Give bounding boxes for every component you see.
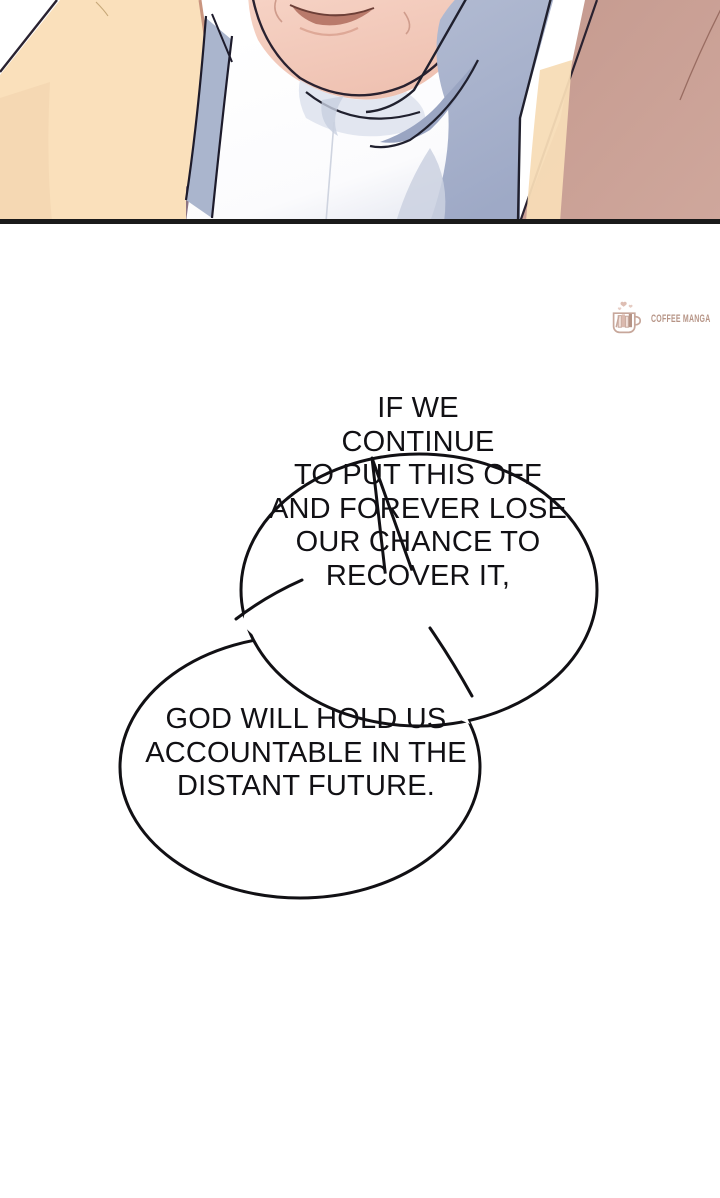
bubble-line: IF WE <box>236 392 600 426</box>
panel-contents <box>0 0 720 222</box>
speech-bubble-secondary-text: GOD WILL HOLD US ACCOUNTABLE IN THE DIST… <box>124 703 488 804</box>
speech-bubble-primary-text: IF WE CONTINUE TO PUT THIS OFF AND FOREV… <box>236 392 600 593</box>
bubble-line: CONTINUE <box>236 426 600 460</box>
panel-artwork-svg <box>0 0 720 224</box>
bubble-line: OUR CHANCE TO <box>236 526 600 560</box>
bubble-line: AND FOREVER LOSE <box>236 493 600 527</box>
webtoon-page: COFFEE MANGA IF WE CONTINUE TO PUT THIS … <box>0 0 720 1198</box>
bubble-line: TO PUT THIS OFF <box>236 459 600 493</box>
clothing-left-inner-shade <box>0 82 52 222</box>
bubble-line: RECOVER IT, <box>236 560 600 594</box>
bubble-line: ACCOUNTABLE IN THE <box>124 737 488 771</box>
manga-panel-character-closeup <box>0 0 720 224</box>
bubble-line: DISTANT FUTURE. <box>124 770 488 804</box>
bubble-line: GOD WILL HOLD US <box>124 703 488 737</box>
